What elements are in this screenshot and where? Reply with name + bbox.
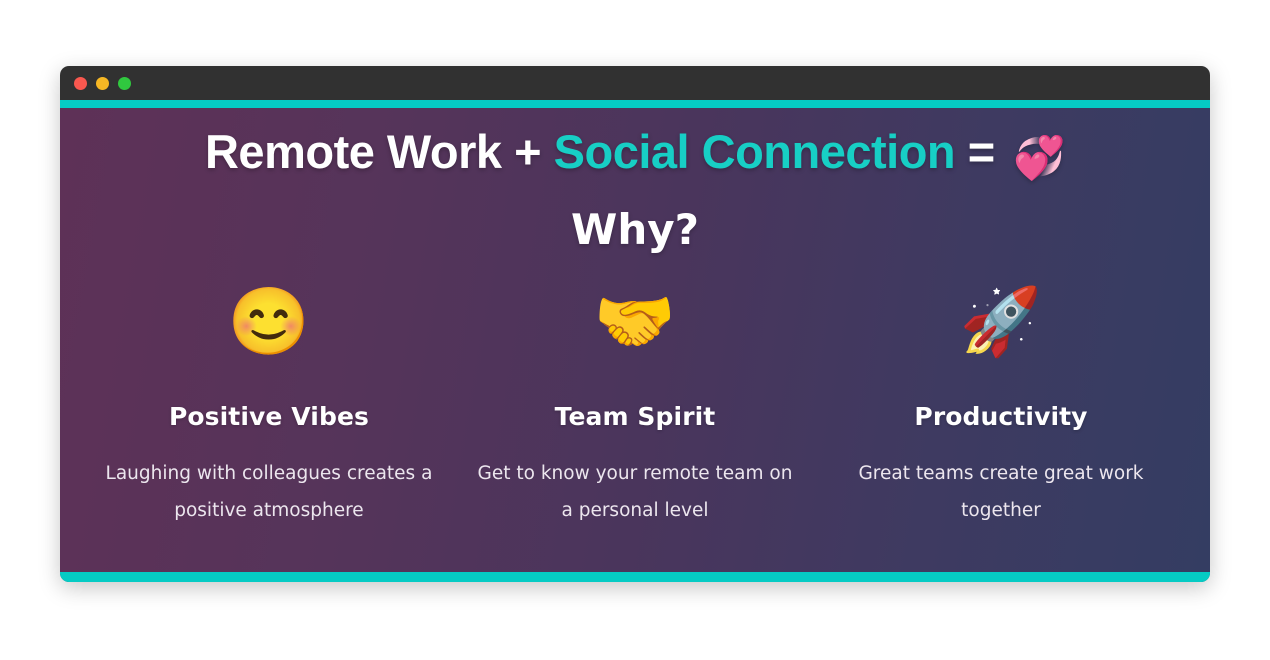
benefit-card-title: Productivity	[832, 402, 1170, 431]
accent-bar-bottom	[60, 572, 1210, 582]
close-button[interactable]	[74, 77, 87, 90]
smiling-face-icon: 😊	[100, 280, 438, 362]
minimize-button[interactable]	[96, 77, 109, 90]
benefit-card-title: Team Spirit	[466, 402, 804, 431]
page-title: Remote Work + Social Connection = 💞	[86, 124, 1184, 183]
rocket-icon: 🚀	[832, 280, 1170, 362]
benefit-card-title: Positive Vibes	[100, 402, 438, 431]
benefit-card-team-spirit: 🤝 Team Spirit Get to know your remote te…	[452, 280, 818, 529]
benefit-card-productivity: 🚀 Productivity Great teams create great …	[818, 280, 1184, 529]
benefit-cards-row: 😊 Positive Vibes Laughing with colleague…	[86, 280, 1184, 529]
benefit-card-positive-vibes: 😊 Positive Vibes Laughing with colleague…	[86, 280, 452, 529]
accent-bar-top	[60, 100, 1210, 108]
benefit-card-body: Get to know your remote team on a person…	[470, 455, 800, 529]
headline-equals: =	[955, 125, 1007, 178]
window-titlebar	[60, 66, 1210, 100]
section-subheading: Why?	[86, 205, 1184, 254]
headline-highlight: Social Connection	[554, 125, 956, 178]
headline-part-one: Remote Work +	[205, 125, 554, 178]
revolving-hearts-icon: 💞	[1013, 134, 1065, 181]
handshake-icon: 🤝	[466, 280, 804, 362]
browser-window-mockup: Remote Work + Social Connection = 💞 Why?…	[60, 66, 1210, 582]
slide-content: Remote Work + Social Connection = 💞 Why?…	[60, 108, 1210, 582]
screenshot-root: Remote Work + Social Connection = 💞 Why?…	[0, 0, 1270, 660]
benefit-card-body: Laughing with colleagues creates a posit…	[104, 455, 434, 529]
benefit-card-body: Great teams create great work together	[836, 455, 1166, 529]
maximize-button[interactable]	[118, 77, 131, 90]
